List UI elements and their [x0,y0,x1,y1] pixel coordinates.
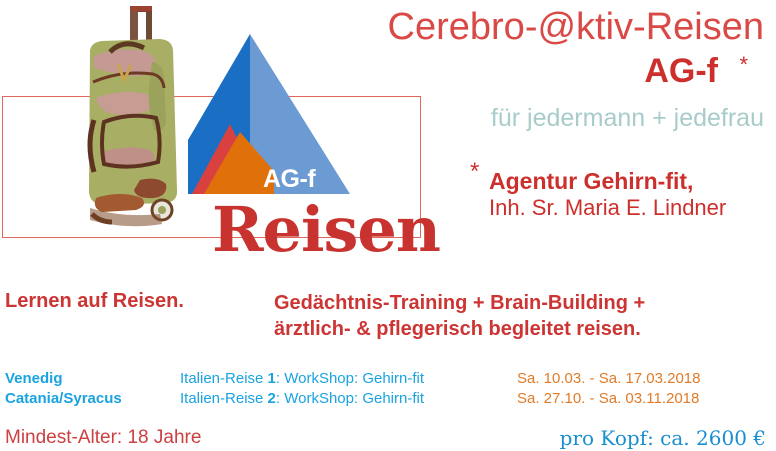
trip-dates: Sa. 27.10. - Sa. 03.11.2018 [517,389,771,409]
brand-tagline: für jedermann + jedefrau [491,104,764,132]
minimum-age-note: Mindest-Alter: 18 Jahre [5,427,201,449]
claim-right-line-1: Gedächtnis-Training + Brain-Building + [274,290,645,316]
trip-description: Italien-Reise 1: WorkShop: Gehirn-fit [180,369,517,389]
trip-number: 2 [268,390,276,407]
agency-owner: Inh. Sr. Maria E. Lindner [489,195,726,220]
trip-number: 1 [268,370,276,387]
pyramid-logo-label: AG-f [263,165,315,194]
brand-title: Cerebro-@ktiv-Reisen [388,6,764,48]
trip-city: Catania/Syracus [5,389,180,409]
trip-description: Italien-Reise 2: WorkShop: Gehirn-fit [180,389,517,409]
claim-left: Lernen auf Reisen. [5,290,184,313]
trip-suffix: : WorkShop: Gehirn-fit [276,390,424,407]
agency-footnote-marker: * [470,158,479,186]
table-row: Catania/Syracus Italien-Reise 2: WorkSho… [5,389,771,409]
trip-dates: Sa. 10.03. - Sa. 17.03.2018 [517,369,771,389]
trips-table: Venedig Italien-Reise 1: WorkShop: Gehir… [5,369,771,409]
claim-right: Gedächtnis-Training + Brain-Building + ä… [274,290,645,342]
claim-right-line-2: ärztlich- & pflegerisch begleitet reisen… [274,316,645,342]
trip-prefix: Italien-Reise [180,370,268,387]
price-note: pro Kopf: ca. 2600 € [560,426,766,450]
agency-name: Agentur Gehirn-fit, [489,168,693,194]
brand-abbrev-footnote-marker: * [739,52,748,78]
poster-canvas: AG-f Reisen Cerebro-@ktiv-Reisen AG-f * … [0,0,776,451]
table-row: Venedig Italien-Reise 1: WorkShop: Gehir… [5,369,771,389]
reisen-wordmark: Reisen [212,199,440,261]
trip-prefix: Italien-Reise [180,390,268,407]
trip-suffix: : WorkShop: Gehirn-fit [276,370,424,387]
trip-city: Venedig [5,369,180,389]
brand-abbrev: AG-f [644,53,718,89]
